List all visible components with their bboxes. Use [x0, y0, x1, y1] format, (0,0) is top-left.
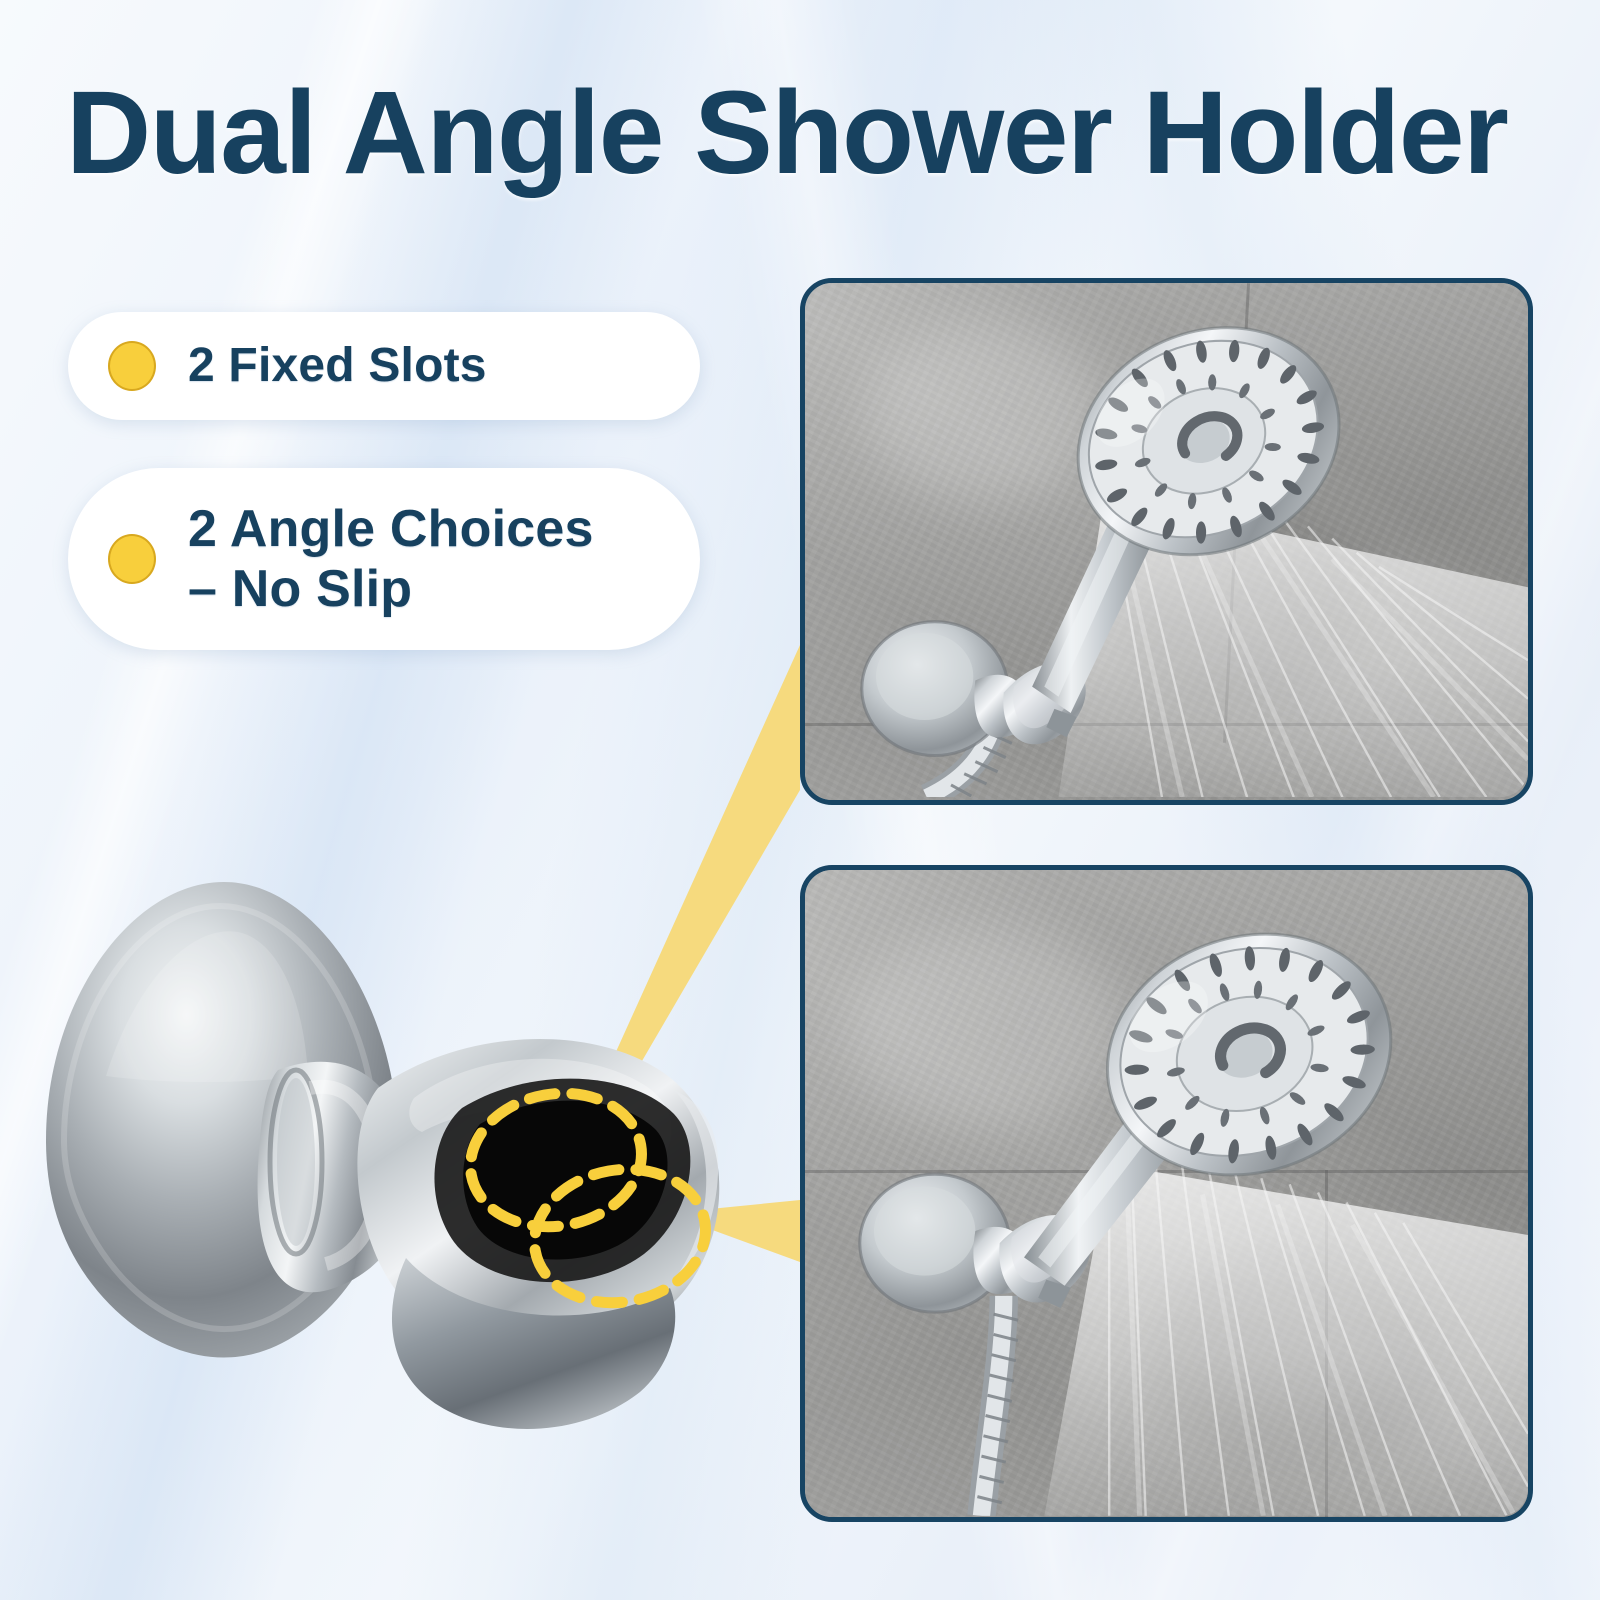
product-shower-holder[interactable] [10, 840, 790, 1460]
panel-tilted-scene [805, 870, 1528, 1516]
panel-upright-angle[interactable] [800, 278, 1533, 805]
infographic-canvas: Dual Angle Shower Holder 2 Fixed Slots 2… [0, 0, 1600, 1600]
panel-upright-scene [805, 283, 1528, 797]
shower-hose [977, 1296, 1018, 1516]
panel-tilted-angle[interactable] [800, 865, 1533, 1522]
